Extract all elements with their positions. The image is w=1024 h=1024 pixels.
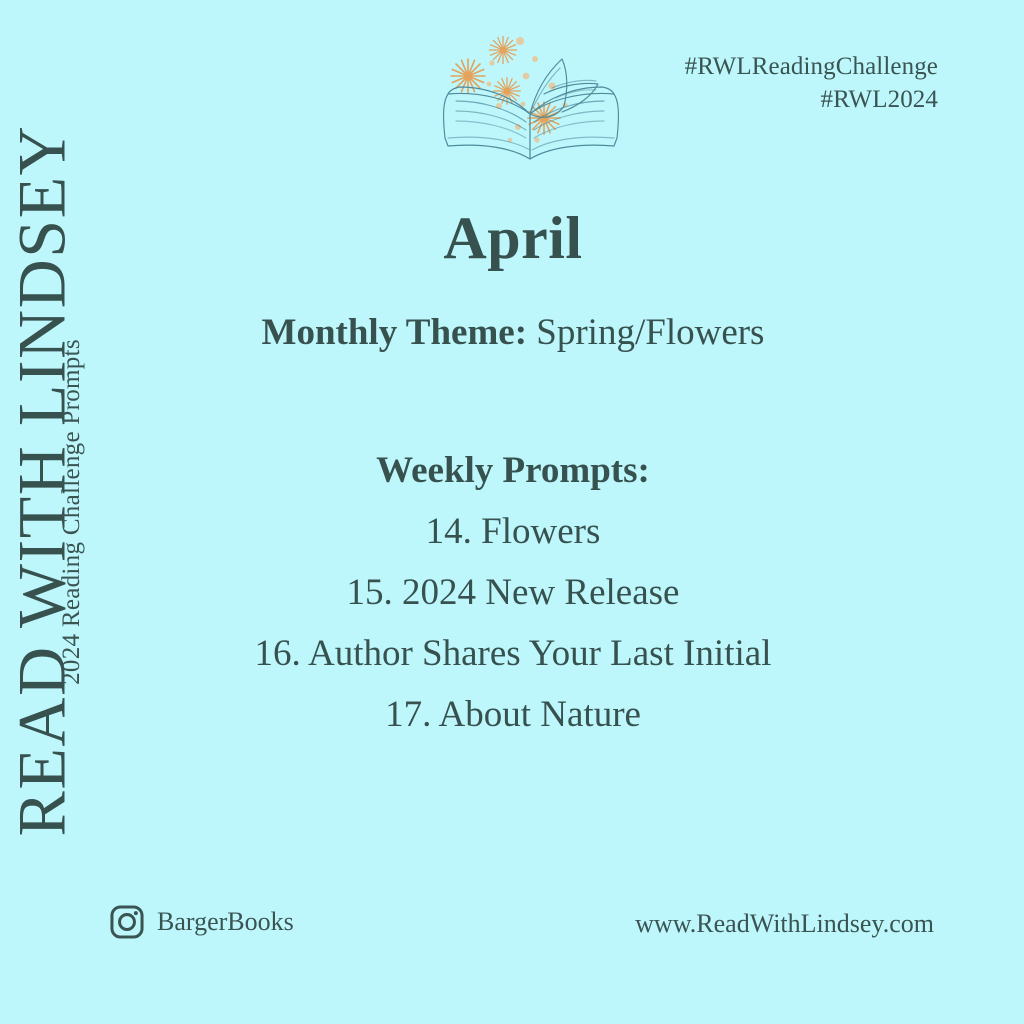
weekly-prompts-title: Weekly Prompts: — [150, 452, 876, 489]
monthly-theme: Monthly Theme: Spring/Flowers — [190, 312, 836, 355]
hashtag-secondary: #RWL2024 — [685, 83, 938, 116]
brand-tagline: 2024 Reading Challenge Prompts — [58, 268, 86, 756]
website-url[interactable]: www.ReadWithLindsey.com — [635, 909, 934, 939]
prompt-item: 15. 2024 New Release — [150, 574, 876, 611]
hashtags: #RWLReadingChallenge #RWL2024 — [685, 50, 938, 116]
reading-challenge-graphic: #RWLReadingChallenge #RWL2024 READ WITH … — [0, 0, 1024, 1024]
monthly-theme-value: Spring/Flowers — [536, 312, 764, 353]
weekly-prompts-section: Weekly Prompts: 14. Flowers 15. 2024 New… — [150, 452, 876, 757]
monthly-theme-separator: : — [515, 312, 537, 353]
hashtag-primary: #RWLReadingChallenge — [685, 50, 938, 83]
prompt-item: 17. About Nature — [150, 696, 876, 733]
instagram-handle-group[interactable]: BargerBooks — [108, 903, 294, 941]
open-book-with-sparkles-icon — [432, 28, 628, 168]
prompt-item: 16. Author Shares Your Last Initial — [150, 635, 876, 672]
instagram-icon[interactable] — [108, 903, 146, 941]
prompt-item: 14. Flowers — [150, 513, 876, 550]
monthly-theme-label: Monthly Theme — [262, 312, 515, 353]
instagram-handle[interactable]: BargerBooks — [157, 907, 294, 937]
page-title: April — [190, 208, 836, 268]
